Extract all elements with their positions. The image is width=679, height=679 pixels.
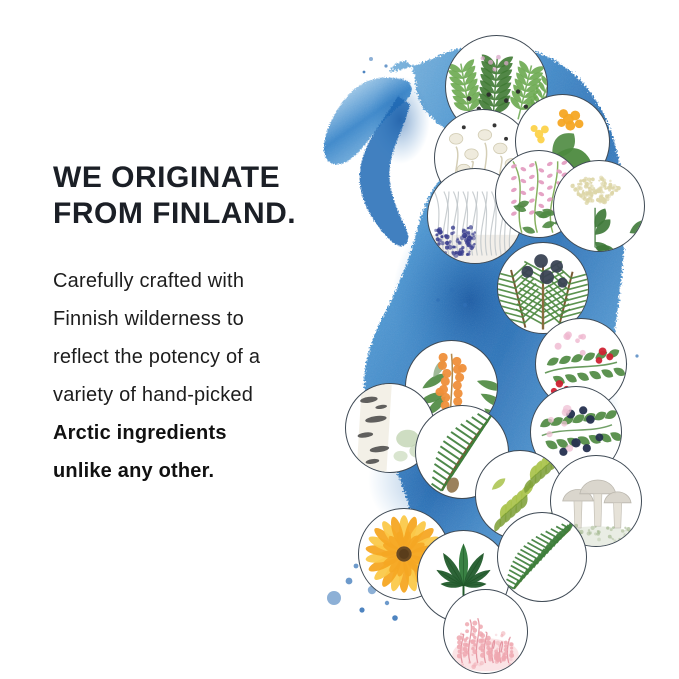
- body-line-1: Carefully crafted with: [53, 262, 353, 300]
- paint-splatter-dot: [635, 354, 638, 357]
- poster-canvas: WE ORIGINATEFROM FINLAND. Carefully craf…: [0, 0, 679, 679]
- paint-splatter-dot: [369, 57, 373, 61]
- circle-pink-botanical-art: [444, 590, 527, 673]
- paint-splatter-dot: [384, 64, 387, 67]
- paint-splatter-dot: [359, 607, 364, 612]
- paint-splatter-dot: [392, 615, 398, 621]
- circle-meadowsweet-art: [554, 161, 644, 251]
- headline-line-1: WE ORIGINATE: [53, 160, 353, 196]
- paint-splatter-dot: [354, 564, 359, 569]
- circle-spruce-sprig: [497, 512, 587, 602]
- paint-splatter-dot: [385, 601, 389, 605]
- body-line-3: reflect the potency of a: [53, 338, 353, 376]
- paint-splatter-dot: [463, 303, 467, 307]
- body-line-6: unlike any other.: [53, 452, 353, 490]
- headline-line-2: FROM FINLAND.: [53, 196, 353, 232]
- page-title: WE ORIGINATEFROM FINLAND.: [53, 160, 353, 232]
- paint-splatter-dot: [436, 298, 440, 302]
- circle-pink-botanical: [443, 589, 528, 674]
- circle-spruce-sprig-art: [498, 513, 586, 601]
- body-line-2: Finnish wilderness to: [53, 300, 353, 338]
- body-line-5: Arctic ingredients: [53, 414, 353, 452]
- paint-splatter-dot: [363, 71, 366, 74]
- copy-block: WE ORIGINATEFROM FINLAND. Carefully craf…: [53, 160, 353, 490]
- circle-meadowsweet: [553, 160, 645, 252]
- paint-splatter-dot: [450, 288, 455, 293]
- body-line-4: variety of hand-picked: [53, 376, 353, 414]
- paint-splatter-dot: [346, 578, 353, 585]
- body-copy: Carefully crafted withFinnish wilderness…: [53, 262, 353, 490]
- paint-splatter-dot: [327, 591, 341, 605]
